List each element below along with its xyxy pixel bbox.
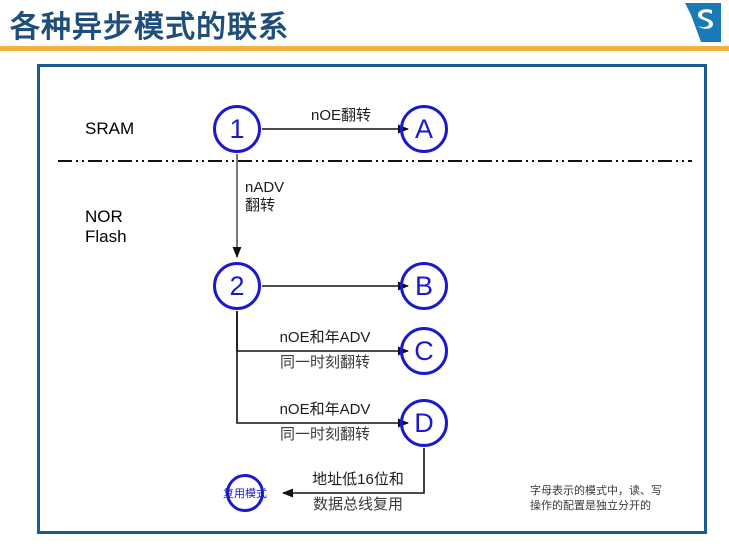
edge-label-2-d-top: nOE和年ADV	[245, 401, 405, 419]
edge-label-2-c-bottom: 同一时刻翻转	[245, 354, 405, 372]
region-label-sram: SRAM	[85, 119, 134, 139]
diagram-connectors	[40, 67, 710, 537]
edge-label-d-mux-top: 地址低16位和	[283, 471, 433, 489]
diagram-frame: SRAM NOR Flash 1 A 2 B C D 复用模式 nOE翻转 nA…	[37, 64, 707, 534]
edge-label-2-d-bottom: 同一时刻翻转	[245, 426, 405, 444]
edge-label-d-mux-bottom: 数据总线复用	[283, 496, 433, 514]
title-accent-rule	[0, 46, 729, 51]
edge-label-2-c-top: nOE和年ADV	[245, 329, 405, 347]
node-d[interactable]: D	[400, 399, 448, 447]
node-2[interactable]: 2	[213, 262, 261, 310]
edge-label-1-2: nADV 翻转	[245, 179, 335, 215]
node-a[interactable]: A	[400, 105, 448, 153]
node-c[interactable]: C	[400, 327, 448, 375]
node-b[interactable]: B	[400, 262, 448, 310]
page-title: 各种异步模式的联系	[10, 2, 289, 46]
node-mux[interactable]: 复用模式	[226, 474, 264, 512]
region-label-nor-flash: NOR Flash	[85, 207, 127, 247]
st-logo	[671, 1, 723, 45]
diagram-footnote: 字母表示的模式中，读、写 操作的配置是独立分开的	[530, 483, 700, 513]
edge-label-1-a: nOE翻转	[286, 107, 396, 125]
node-1[interactable]: 1	[213, 105, 261, 153]
